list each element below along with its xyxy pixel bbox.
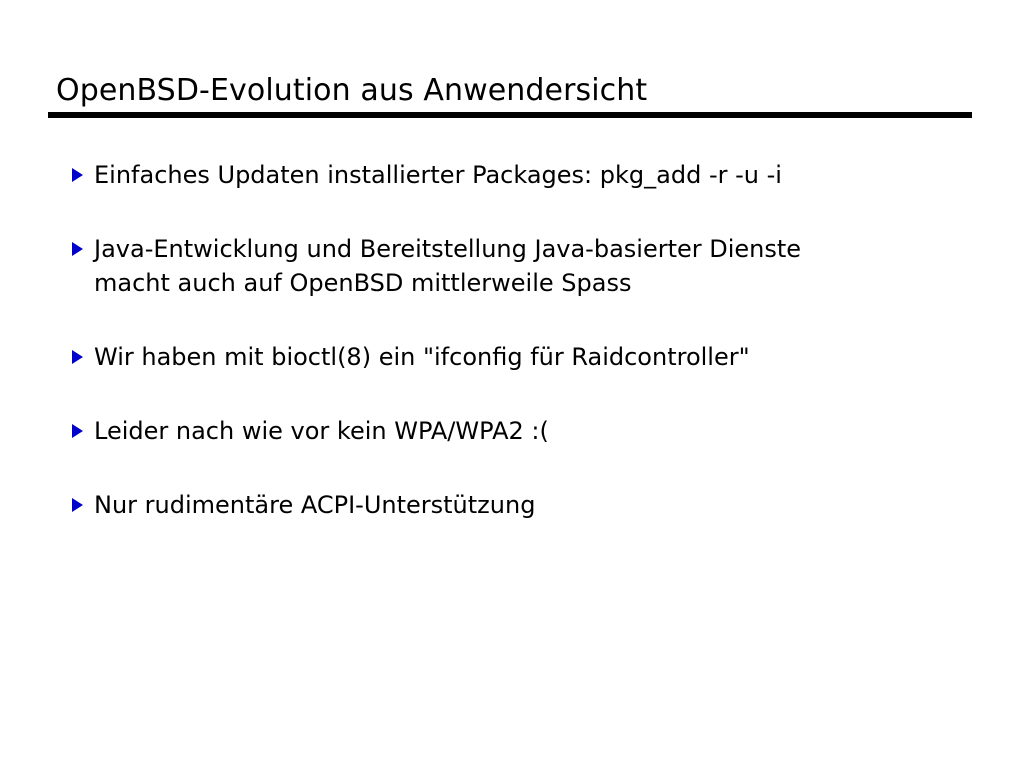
bullet-list: Einfaches Updaten installierter Packages… — [70, 158, 970, 522]
title-underline-rule — [48, 112, 972, 118]
triangle-right-icon — [72, 498, 83, 512]
presentation-slide: OpenBSD-Evolution aus Anwendersicht Einf… — [0, 0, 1024, 768]
list-item-text: Wir haben mit bioctl(8) ein "ifconfig fü… — [94, 340, 970, 374]
triangle-right-icon — [72, 168, 83, 182]
list-item-text: Nur rudimentäre ACPI-Unterstützung — [94, 488, 970, 522]
list-item: Nur rudimentäre ACPI-Unterstützung — [70, 488, 970, 522]
list-item: Leider nach wie vor kein WPA/WPA2 :( — [70, 414, 970, 448]
list-item: Wir haben mit bioctl(8) ein "ifconfig fü… — [70, 340, 970, 374]
list-item: Einfaches Updaten installierter Packages… — [70, 158, 970, 192]
triangle-right-icon — [72, 424, 83, 438]
page-title: OpenBSD-Evolution aus Anwendersicht — [56, 72, 647, 110]
list-item: Java-Entwicklung und Bereitstellung Java… — [70, 232, 970, 300]
list-item-text: Java-Entwicklung und Bereitstellung Java… — [94, 232, 970, 300]
triangle-right-icon — [72, 242, 83, 256]
list-item-text: Leider nach wie vor kein WPA/WPA2 :( — [94, 414, 970, 448]
triangle-right-icon — [72, 350, 83, 364]
list-item-text: Einfaches Updaten installierter Packages… — [94, 158, 970, 192]
